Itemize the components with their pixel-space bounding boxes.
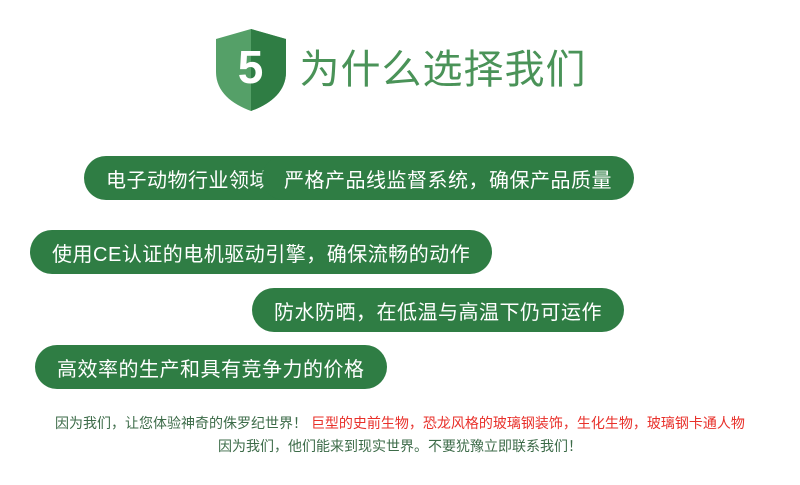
footer-line-1: 因为我们，让您体验神奇的侏罗纪世界！ 巨型的史前生物，恐龙风格的玻璃钢装饰，生化… xyxy=(0,412,800,435)
shield-badge: 5 xyxy=(214,28,288,112)
footer-line-1-green: 因为我们，让您体验神奇的侏罗纪世界！ xyxy=(55,415,311,431)
footer-text: 因为我们，让您体验神奇的侏罗纪世界！ 巨型的史前生物，恐龙风格的玻璃钢装饰，生化… xyxy=(0,412,800,458)
page-header: 5 为什么选择我们 xyxy=(0,22,800,117)
footer-line-2: 因为我们，他们能来到现实世界。不要犹豫立即联系我们！ xyxy=(0,435,800,458)
page-title: 为什么选择我们 xyxy=(300,48,587,92)
feature-pill-5: 高效率的生产和具有竞争力的价格 xyxy=(35,345,387,389)
feature-pill-4: 防水防晒，在低温与高温下仍可运作 xyxy=(252,288,624,332)
feature-pill-2: 严格产品线监督系统，确保产品质量 xyxy=(262,156,634,200)
feature-list: 电子动物行业领域多年经验 严格产品线监督系统，确保产品质量 使用CE认证的电机驱… xyxy=(0,140,800,395)
feature-pill-3: 使用CE认证的电机驱动引擎，确保流畅的动作 xyxy=(30,230,492,274)
badge-number: 5 xyxy=(214,28,288,112)
promo-banner: 5 为什么选择我们 电子动物行业领域多年经验 严格产品线监督系统，确保产品质量 … xyxy=(0,0,800,485)
footer-line-1-red: 巨型的史前生物，恐龙风格的玻璃钢装饰，生化生物，玻璃钢卡通人物 xyxy=(311,415,745,431)
